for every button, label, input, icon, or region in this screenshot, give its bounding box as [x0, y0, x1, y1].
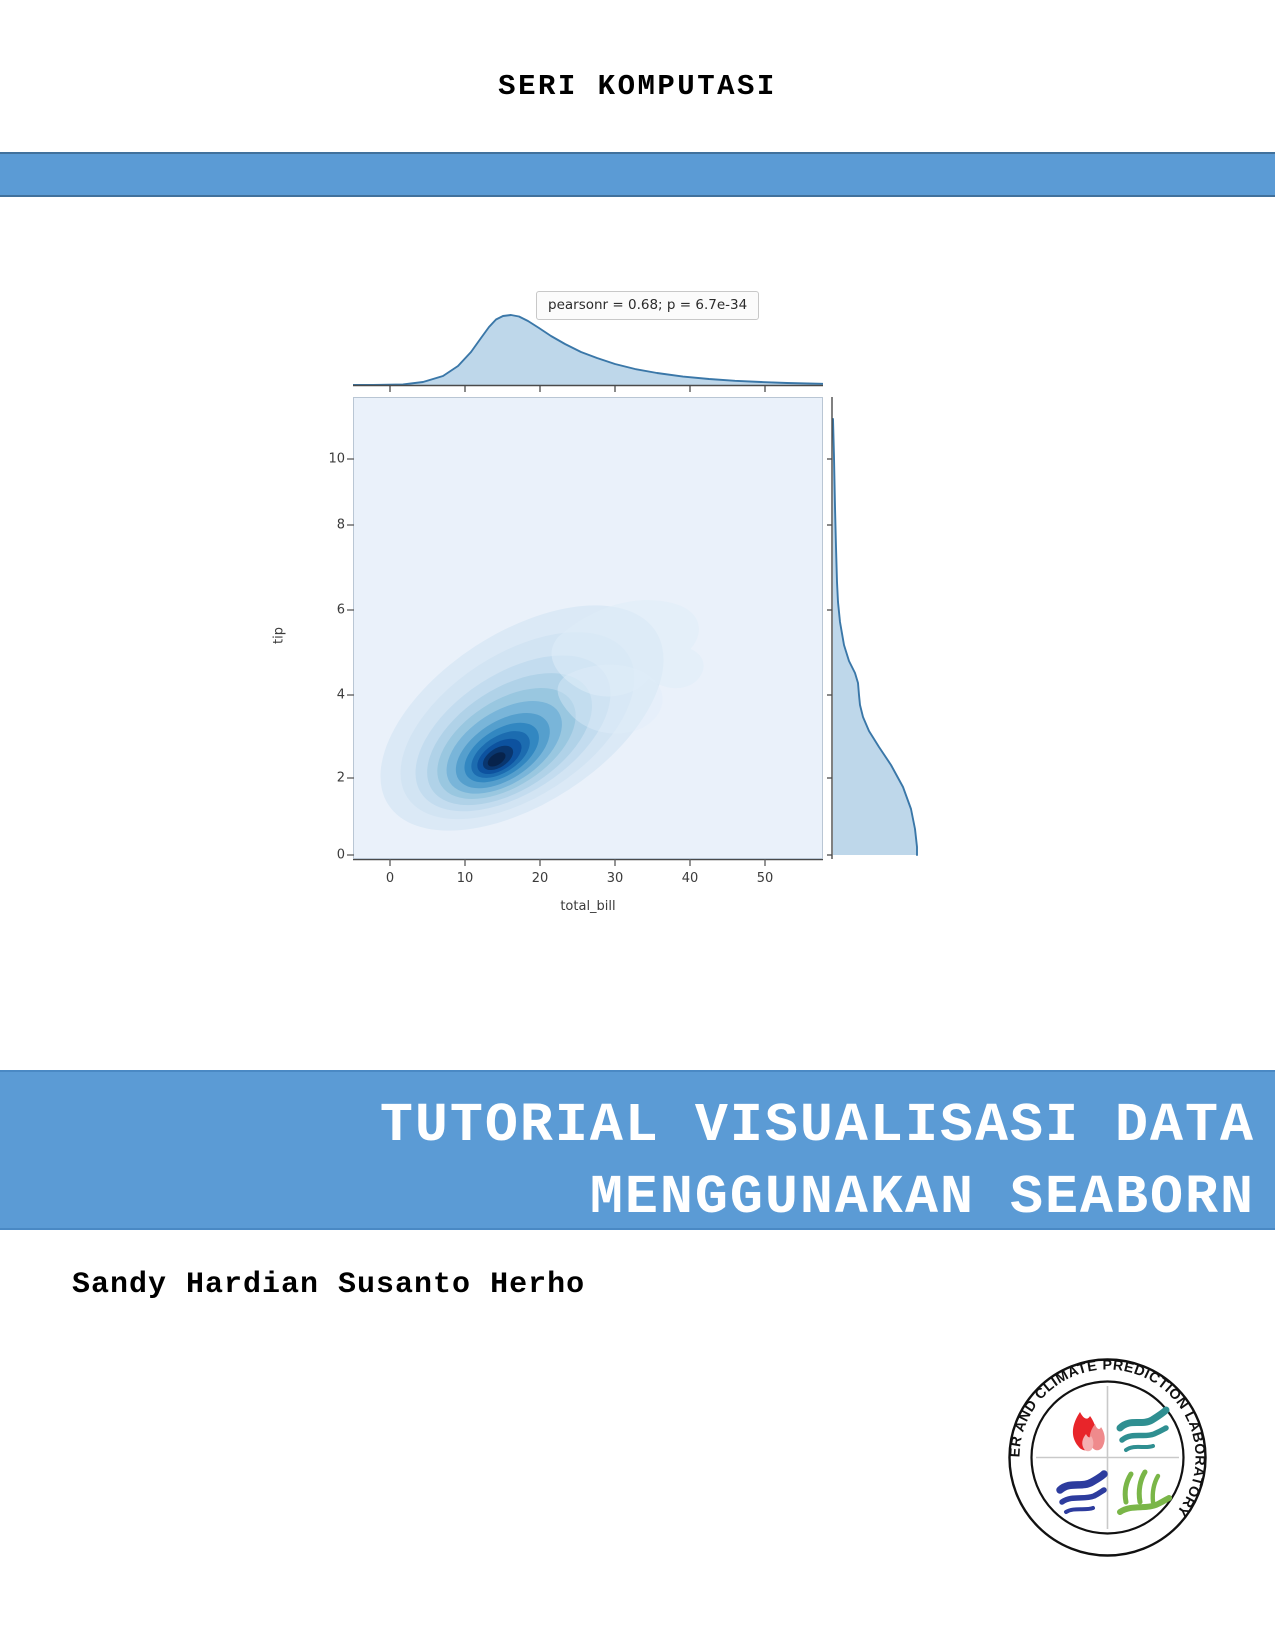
x-tick-label-50: 50 [757, 871, 774, 886]
book-title-line-2: MENGGUNAKAN SEABORN [590, 1170, 1255, 1225]
x-tick-label-20: 20 [532, 871, 549, 886]
author-name: Sandy Hardian Susanto Herho [72, 1268, 585, 1302]
y-axis-ticks [345, 397, 354, 859]
y-tick-label-2: 2 [285, 771, 345, 786]
x-tick-label-30: 30 [607, 871, 624, 886]
pearson-correlation-annotation: pearsonr = 0.68; p = 6.7e-34 [536, 291, 759, 320]
joint-kde-plot-area [353, 397, 823, 859]
top-accent-bar [0, 152, 1275, 197]
blue-wave-icon [1060, 1474, 1104, 1512]
green-plant-icon [1120, 1472, 1169, 1512]
title-band: TUTORIAL VISUALISASI DATA MENGGUNAKAN SE… [0, 1070, 1275, 1230]
teal-wave-icon [1120, 1410, 1166, 1450]
y-tick-label-8: 8 [285, 518, 345, 533]
book-title-line-1: TUTORIAL VISUALISASI DATA [380, 1098, 1255, 1153]
lab-logo: WEATHER AND CLIMATE PREDICTION LABORATOR… [1000, 1350, 1215, 1565]
y-tick-label-0: 0 [285, 848, 345, 863]
flame-icon [1073, 1412, 1105, 1451]
y-tick-label-6: 6 [285, 603, 345, 618]
x-tick-label-0: 0 [386, 871, 394, 886]
marginal-y-svg [827, 397, 925, 859]
y-axis-label: tip [272, 627, 287, 644]
x-tick-label-40: 40 [682, 871, 699, 886]
y-tick-label-4: 4 [285, 688, 345, 703]
x-tick-label-10: 10 [457, 871, 474, 886]
y-tick-label-10: 10 [285, 452, 345, 467]
x-axis-label: total_bill [353, 899, 823, 914]
joint-kde-svg [354, 398, 822, 858]
x-axis-ticks [353, 859, 823, 868]
cover-figure: 10 8 6 4 2 0 [285, 285, 855, 965]
lab-logo-svg: WEATHER AND CLIMATE PREDICTION LABORATOR… [1000, 1350, 1215, 1565]
marginal-density-tip [827, 397, 925, 859]
series-label: SERI KOMPUTASI [0, 70, 1275, 103]
